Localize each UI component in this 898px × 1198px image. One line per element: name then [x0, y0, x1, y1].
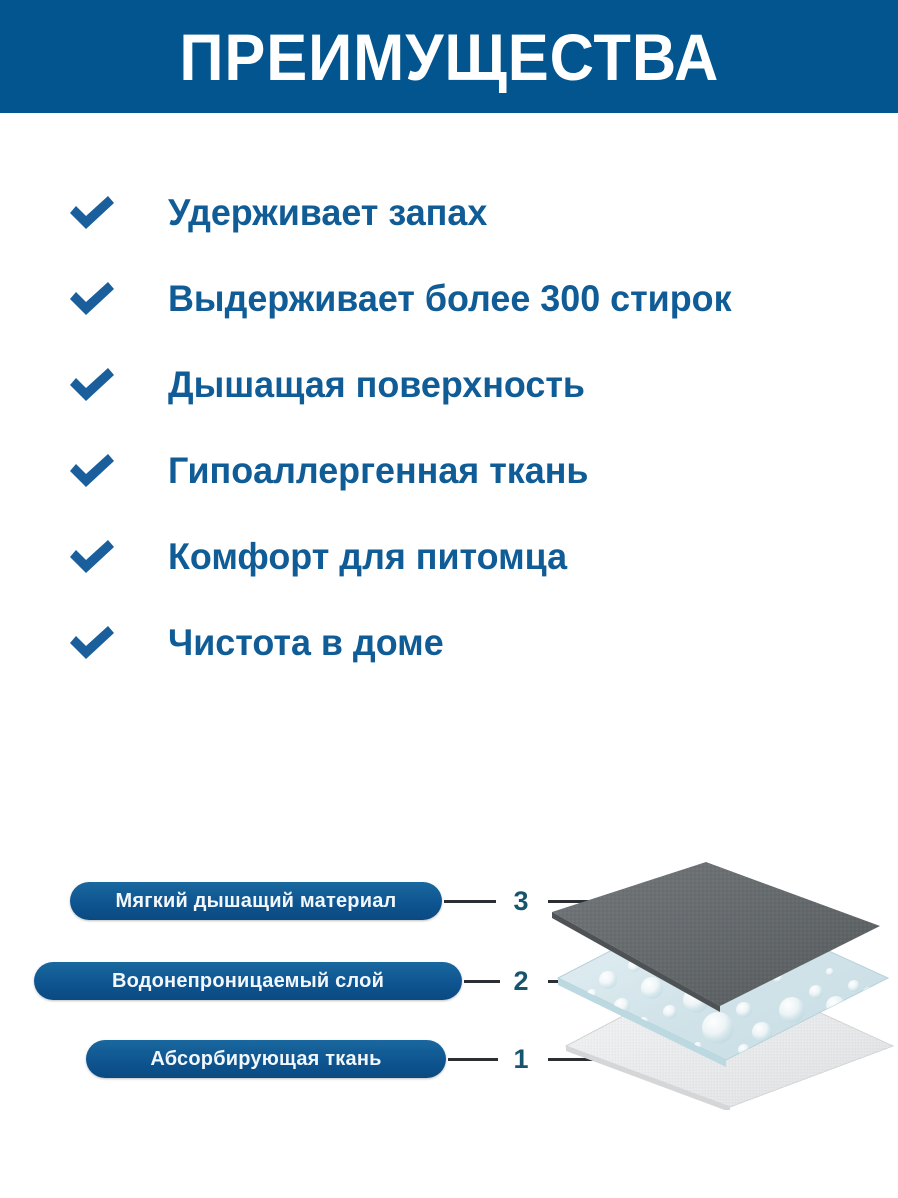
leader-line-right	[548, 900, 626, 903]
layer-label-pill: Мягкий дышащий материал	[70, 882, 442, 920]
benefit-label: Дышащая поверхность	[168, 364, 585, 406]
benefit-label: Чистота в доме	[168, 622, 444, 664]
list-item: Выдерживает более 300 стирок	[0, 256, 898, 342]
leader-line-left	[448, 1058, 498, 1061]
benefit-label: Удерживает запах	[168, 192, 487, 234]
list-item: Дышащая поверхность	[0, 342, 898, 428]
check-icon	[66, 450, 124, 492]
leader-line-left	[464, 980, 500, 983]
leader-line-right	[548, 980, 644, 983]
check-icon	[66, 536, 124, 578]
layer-callout-2: Водонепроницаемый слой 2	[0, 962, 898, 1008]
layer-number: 1	[508, 1040, 534, 1078]
list-item: Гипоаллергенная ткань	[0, 428, 898, 514]
benefits-list: Удерживает запах Выдерживает более 300 с…	[0, 170, 898, 686]
list-item: Удерживает запах	[0, 170, 898, 256]
layer-callout-3: Мягкий дышащий материал 3	[0, 882, 898, 928]
layer-diagram: Мягкий дышащий материал 3 Водонепроницае…	[0, 860, 898, 1110]
layer-label-text: Абсорбирующая ткань	[150, 1048, 381, 1071]
layer-callout-1: Абсорбирующая ткань 1	[0, 1040, 898, 1086]
promo-infographic-page: ПРЕИМУЩЕСТВА Удерживает запах Выдерживае…	[0, 0, 898, 1198]
list-item: Чистота в доме	[0, 600, 898, 686]
list-item: Комфорт для питомца	[0, 514, 898, 600]
benefit-label: Выдерживает более 300 стирок	[168, 278, 732, 320]
leader-line-right	[548, 1058, 648, 1061]
layer-number: 2	[508, 962, 534, 1000]
benefit-label: Гипоаллергенная ткань	[168, 450, 588, 492]
layer-label-pill: Водонепроницаемый слой	[34, 962, 462, 1000]
check-icon	[66, 364, 124, 406]
check-icon	[66, 192, 124, 234]
check-icon	[66, 278, 124, 320]
layer-label-pill: Абсорбирующая ткань	[86, 1040, 446, 1078]
check-icon	[66, 622, 124, 664]
page-title: ПРЕИМУЩЕСТВА	[179, 24, 719, 90]
leader-line-left	[444, 900, 496, 903]
header-banner: ПРЕИМУЩЕСТВА	[0, 0, 898, 113]
layer-label-text: Мягкий дышащий материал	[116, 890, 397, 913]
layer-label-text: Водонепроницаемый слой	[112, 970, 384, 993]
benefit-label: Комфорт для питомца	[168, 536, 567, 578]
layer-number: 3	[508, 882, 534, 920]
